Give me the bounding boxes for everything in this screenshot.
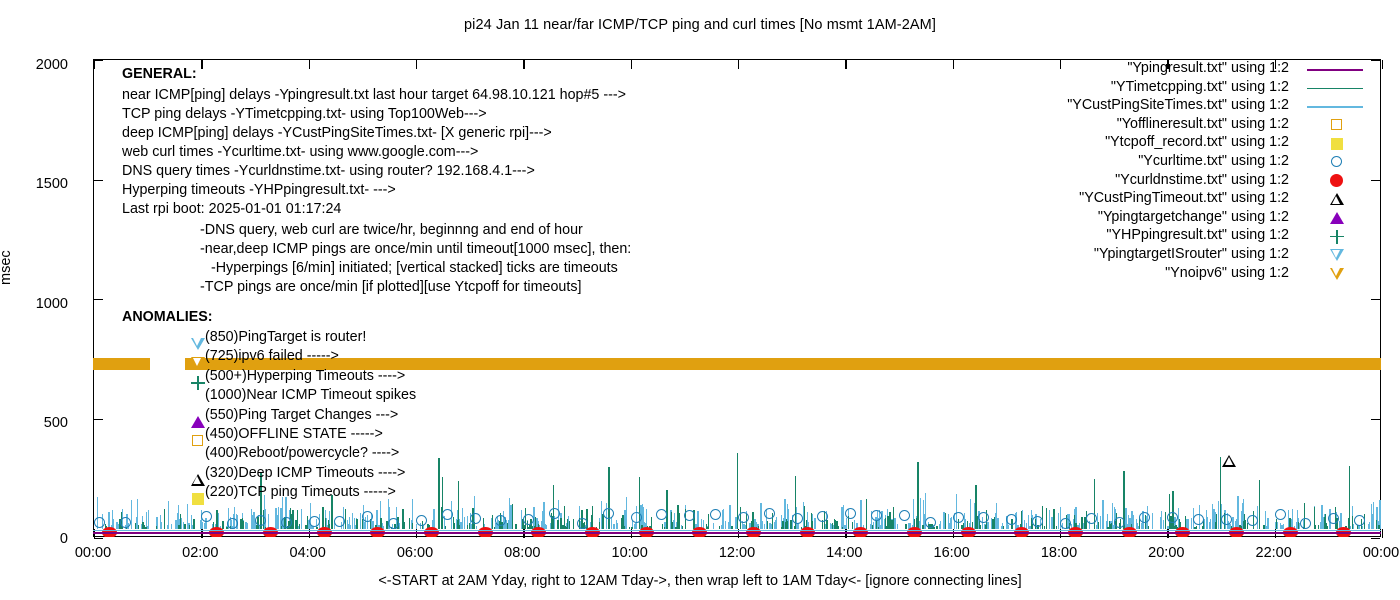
tcp-ping-noise-tick	[786, 519, 787, 529]
tcp-ping-noise-tick	[564, 506, 565, 529]
tcp-ping-noise-tick	[500, 526, 501, 529]
tcp-ping-noise-tick	[1314, 519, 1315, 529]
curl-time-marker	[470, 513, 481, 524]
curl-time-marker	[1221, 514, 1232, 525]
near-icmp-baseline	[93, 532, 1381, 534]
tcp-ping-noise-tick	[878, 527, 879, 529]
tcp-ping-noise-tick	[135, 523, 136, 529]
tcp-ping-noise-tick	[1202, 526, 1203, 529]
tcp-ping-noise-tick	[1216, 514, 1217, 529]
deep-icmp-noise-tick	[160, 526, 161, 529]
tcp-ping-noise-tick	[592, 506, 593, 529]
curl-time-marker	[442, 509, 453, 520]
deep-icmp-noise-tick	[634, 526, 635, 529]
curl-time-marker	[1167, 512, 1178, 523]
tcp-ping-noise-tick	[567, 519, 568, 529]
deep-icmp-noise-tick	[205, 522, 206, 529]
tcp-ping-noise-tick	[893, 507, 894, 529]
anomaly-item-7: (320)Deep ICMP Timeouts ---->	[205, 464, 405, 483]
tcp-ping-noise-tick	[1003, 526, 1004, 529]
general-line-4: web curl times -Ycurltime.txt- using www…	[122, 143, 478, 162]
tcp-ping-noise-tick	[682, 526, 683, 529]
tcp-ping-spike	[1259, 480, 1260, 529]
curl-time-marker	[1114, 517, 1125, 528]
tcp-ping-noise-tick	[295, 520, 296, 529]
curl-time-marker	[201, 511, 212, 522]
curl-time-marker	[764, 508, 775, 519]
x-tick-02-00-1: 02:00	[182, 545, 218, 561]
legend-key-square-open-icon	[1303, 116, 1367, 135]
deep-icmp-noise-tick	[743, 524, 744, 529]
legend-marker-swatch	[1330, 249, 1344, 261]
deep-icmp-noise-tick	[245, 522, 246, 529]
legend-label: "Ytcpoff_record.txt" using 1:2	[1105, 134, 1289, 150]
tcp-ping-noise-tick	[852, 522, 853, 529]
x-tick-00-00-0: 00:00	[75, 545, 111, 561]
tcp-ping-noise-tick	[573, 519, 574, 529]
tcp-ping-noise-tick	[1215, 522, 1216, 529]
deep-icmp-noise-tick	[1207, 517, 1208, 529]
x-tick-16-00-8: 16:00	[934, 545, 970, 561]
tcp-ping-noise-tick	[945, 513, 946, 529]
x-tick-00-00-12: 00:00	[1363, 545, 1399, 561]
deep-icmp-noise-tick	[797, 523, 798, 529]
curl-time-marker	[94, 517, 105, 528]
curl-time-marker	[1275, 509, 1286, 520]
tcp-ping-noise-tick	[662, 524, 663, 529]
curl-time-marker	[817, 511, 828, 522]
deep-icmp-noise-tick	[462, 508, 463, 529]
deep-icmp-noise-tick	[626, 497, 627, 529]
curl-time-marker	[362, 511, 373, 522]
legend-label: "YCustPingSiteTimes.txt" using 1:2	[1067, 97, 1289, 113]
curl-time-marker	[1032, 516, 1043, 527]
deep-icmp-noise-tick	[997, 518, 998, 529]
tcp-ping-noise-tick	[403, 522, 404, 529]
deep-icmp-noise-tick	[399, 523, 400, 529]
tcp-ping-noise-tick	[180, 514, 181, 529]
anomaly-item-3: (1000)Near ICMP Timeout spikes	[205, 386, 416, 405]
legend-label: "YHPpingresult.txt" using 1:2	[1106, 227, 1289, 243]
tcp-ping-spike	[438, 458, 439, 529]
general-line-1: near ICMP[ping] delays -Ypingresult.txt …	[122, 86, 626, 105]
legend-entry: "Ycurltime.txt" using 1:2	[985, 153, 1375, 172]
deep-icmp-noise-tick	[131, 500, 132, 529]
triangle-up-open-icon	[190, 472, 206, 488]
deep-icmp-noise-tick	[1163, 520, 1164, 529]
legend-key-line-icon	[1303, 60, 1367, 79]
tcp-ping-noise-tick	[1376, 520, 1377, 529]
deep-icmp-noise-tick	[1100, 516, 1101, 529]
x-tick-22-00-11: 22:00	[1256, 545, 1292, 561]
tcp-ping-spike	[917, 462, 918, 529]
curl-time-marker	[953, 512, 964, 523]
tcp-ping-noise-tick	[494, 527, 495, 529]
tcp-ping-noise-tick	[467, 525, 468, 529]
deep-icmp-noise-tick	[349, 517, 350, 529]
legend-label: "Ypingresult.txt" using 1:2	[1127, 60, 1289, 76]
tcp-ping-noise-tick	[222, 521, 223, 529]
tcp-ping-noise-tick	[889, 526, 890, 529]
legend-entry: "Yofflineresult.txt" using 1:2	[985, 116, 1375, 135]
general-indent-3: -Hyperpings [6/min] initiated; [vertical…	[207, 259, 618, 278]
curl-time-marker	[684, 510, 695, 521]
tcp-ping-spike	[666, 490, 667, 529]
deep-icmp-noise-tick	[546, 525, 547, 529]
legend-line-swatch	[1307, 88, 1363, 90]
marker-glyph	[192, 493, 204, 505]
legend-marker-swatch	[1330, 212, 1344, 224]
tcp-ping-spike	[458, 481, 459, 529]
tcp-ping-tall-spike	[1172, 491, 1173, 529]
marker-glyph	[191, 357, 205, 369]
tcp-ping-noise-tick	[1276, 519, 1277, 529]
deep-icmp-noise-tick	[278, 507, 279, 529]
general-line-5: DNS query times -Ycurldnstime.txt- using…	[122, 162, 535, 181]
deep-icmp-noise-tick	[1209, 522, 1210, 529]
tcp-ping-noise-tick	[1098, 522, 1099, 529]
deep-icmp-noise-tick	[200, 520, 201, 529]
legend-entry: "Ypingtargetchange" using 1:2	[985, 209, 1375, 228]
tcp-ping-noise-tick	[305, 525, 306, 529]
legend-marker-swatch	[1330, 174, 1343, 187]
tcp-ping-noise-tick	[156, 526, 157, 529]
curl-time-marker	[309, 516, 320, 527]
deep-icmp-noise-tick	[171, 525, 172, 529]
tcp-ping-noise-tick	[138, 525, 139, 529]
curl-time-marker	[978, 512, 989, 523]
legend-label: "YTimetcpping.txt" using 1:2	[1111, 79, 1289, 95]
legend-entry: "YCustPingSiteTimes.txt" using 1:2	[985, 97, 1375, 116]
tcp-ping-noise-tick	[189, 525, 190, 529]
deep-icmp-noise-tick	[360, 516, 361, 529]
legend-label: "YCustPingTimeout.txt" using 1:2	[1079, 190, 1289, 206]
curl-time-marker	[1300, 518, 1311, 529]
legend-entry: "YHPpingresult.txt" using 1:2	[985, 227, 1375, 246]
anomaly-item-6: (400)Reboot/powercycle? ---->	[205, 444, 399, 463]
tcp-ping-noise-tick	[804, 506, 805, 529]
legend-line-swatch	[1307, 69, 1363, 71]
legend-label: "Ypingtargetchange" using 1:2	[1098, 209, 1289, 225]
deep-icmp-noise-tick	[1218, 501, 1219, 529]
deep-icmp-noise-tick	[187, 504, 188, 529]
tcp-ping-noise-tick	[142, 522, 143, 529]
general-line-3: deep ICMP[ping] delays -YCustPingSiteTim…	[122, 124, 552, 143]
deep-icmp-noise-tick	[148, 510, 149, 529]
deep-icmp-noise-tick	[860, 500, 861, 529]
tcp-ping-noise-tick	[885, 518, 886, 529]
general-indent-1: -DNS query, web curl are twice/hr, begin…	[200, 221, 583, 240]
x-tick-12-00-6: 12:00	[719, 545, 755, 561]
curl-time-marker	[549, 508, 560, 519]
curl-time-marker	[871, 510, 882, 521]
x-axis-caption: <-START at 2AM Yday, right to 12AM Tday-…	[0, 573, 1400, 589]
tcp-ping-tall-spike	[442, 477, 443, 529]
tcp-ping-noise-tick	[322, 507, 323, 529]
page-title: pi24 Jan 11 near/far ICMP/TCP ping and c…	[0, 17, 1400, 33]
tcp-ping-noise-tick	[1263, 527, 1264, 529]
deep-icmp-noise-tick	[301, 509, 302, 529]
tcp-ping-noise-tick	[1318, 525, 1319, 529]
tcp-ping-noise-tick	[782, 521, 783, 529]
x-tick-20-00-10: 20:00	[1148, 545, 1184, 561]
tcp-ping-noise-tick	[453, 517, 454, 529]
legend-key-line-icon	[1303, 79, 1367, 98]
legend-entry: "YCustPingTimeout.txt" using 1:2	[985, 190, 1375, 209]
deep-icmp-noise-tick	[1160, 517, 1161, 529]
general-line-6: Hyperping timeouts -YHPpingresult.txt- -…	[122, 181, 396, 200]
tcp-ping-noise-tick	[292, 510, 293, 529]
general-line-2: TCP ping delays -YTimetcpping.txt- using…	[122, 105, 487, 124]
tcp-ping-noise-tick	[731, 526, 732, 529]
marker-glyph	[191, 416, 205, 428]
deep-icmp-noise-tick	[251, 509, 252, 529]
deep-icmp-timeout-marker	[1222, 455, 1236, 467]
deep-icmp-noise-tick	[1028, 515, 1029, 529]
curl-time-marker	[1006, 514, 1017, 525]
legend-label: "Ynoipv6" using 1:2	[1165, 265, 1289, 281]
deep-icmp-noise-tick	[1058, 513, 1059, 529]
deep-icmp-noise-tick	[721, 525, 722, 529]
tcp-ping-noise-tick	[936, 526, 937, 529]
legend-entry: "Ycurldnstime.txt" using 1:2	[985, 172, 1375, 191]
plus-icon	[190, 375, 206, 391]
anomaly-item-8: (220)TCP ping Timeouts ----->	[205, 483, 396, 502]
deep-icmp-noise-tick	[1136, 519, 1137, 529]
x-tick-06-00-3: 06:00	[397, 545, 433, 561]
deep-icmp-noise-tick	[611, 517, 612, 529]
tcp-ping-noise-tick	[356, 519, 357, 529]
tcp-ping-noise-tick	[985, 525, 986, 529]
tcp-ping-noise-tick	[178, 525, 179, 529]
tcp-ping-noise-tick	[842, 527, 843, 529]
legend-entry: "YTimetcpping.txt" using 1:2	[985, 79, 1375, 98]
curl-time-marker	[738, 512, 749, 523]
legend-marker-swatch	[1331, 138, 1343, 150]
general-indent-4: -TCP pings are once/min [if plotted][use…	[200, 278, 581, 297]
tcp-ping-spike	[512, 504, 513, 529]
marker-glyph	[191, 474, 205, 486]
anomaly-item-1: (725)ipv6 failed ----->	[205, 347, 339, 366]
tcp-ping-noise-tick	[184, 524, 185, 529]
deep-icmp-noise-tick	[776, 517, 777, 529]
anomaly-item-4: (550)Ping Target Changes --->	[205, 406, 398, 425]
curl-time-marker	[577, 518, 588, 529]
deep-icmp-noise-tick	[1368, 524, 1369, 529]
marker-glyph	[192, 435, 203, 446]
deep-icmp-noise-tick	[774, 522, 775, 529]
deep-icmp-noise-tick	[951, 517, 952, 529]
tcp-ping-noise-tick	[1325, 514, 1326, 529]
deep-icmp-noise-tick	[987, 522, 988, 529]
tcp-ping-noise-tick	[664, 527, 665, 529]
deep-icmp-noise-tick	[1373, 502, 1374, 529]
deep-icmp-noise-tick	[476, 526, 477, 529]
tcp-ping-spike	[164, 509, 165, 529]
tcp-ping-noise-tick	[409, 518, 410, 529]
marker-glyph	[191, 338, 205, 350]
general-heading: GENERAL:	[122, 65, 197, 84]
tcp-ping-noise-tick	[994, 517, 995, 529]
curl-time-marker	[120, 517, 131, 528]
tcp-ping-noise-tick	[933, 527, 934, 529]
tcp-ping-noise-tick	[672, 522, 673, 529]
tcp-ping-spike	[866, 499, 867, 529]
tcp-ping-noise-tick	[193, 519, 194, 529]
tcp-ping-noise-tick	[557, 527, 558, 529]
legend-key-plus-icon	[1303, 227, 1367, 246]
legend-entry: "Ytcpoff_record.txt" using 1:2	[985, 134, 1375, 153]
deep-icmp-noise-tick	[725, 521, 726, 529]
tcp-ping-noise-tick	[1196, 526, 1197, 529]
tcp-ping-noise-tick	[905, 524, 906, 529]
deep-icmp-noise-tick	[895, 518, 896, 529]
tcp-ping-noise-tick	[678, 513, 679, 529]
deep-icmp-noise-tick	[613, 524, 614, 529]
chart-screenshot: pi24 Jan 11 near/far ICMP/TCP ping and c…	[0, 0, 1400, 600]
tcp-ping-noise-tick	[1378, 525, 1379, 529]
tcp-ping-noise-tick	[492, 515, 493, 529]
deep-icmp-noise-tick	[814, 518, 815, 529]
legend-label: "Ycurltime.txt" using 1:2	[1138, 153, 1289, 169]
tcp-ping-noise-tick	[299, 524, 300, 529]
tcp-ping-noise-tick	[622, 515, 623, 529]
tcp-ping-noise-tick	[790, 520, 791, 529]
legend-entry: "Ypingresult.txt" using 1:2	[985, 60, 1375, 79]
triangle-up-purple-icon	[190, 414, 206, 430]
tcp-ping-noise-tick	[145, 527, 146, 529]
triangle-down-blue-icon	[190, 336, 206, 352]
tcp-ping-noise-tick	[631, 527, 632, 529]
anomaly-item-2: (500+)Hyperping Timeouts ---->	[205, 367, 405, 386]
y-tick-500: 500	[8, 415, 68, 431]
legend-marker-swatch	[1330, 193, 1344, 205]
curl-time-marker	[603, 508, 614, 519]
legend-key-square-filled-icon	[1303, 134, 1367, 153]
deep-icmp-noise-tick	[1322, 525, 1323, 529]
tcp-ping-noise-tick	[1381, 526, 1382, 529]
curl-time-marker	[416, 515, 427, 526]
curl-time-marker	[281, 517, 292, 528]
deep-icmp-noise-tick	[1049, 510, 1050, 529]
tcp-ping-noise-tick	[1165, 512, 1166, 529]
curl-time-marker	[925, 517, 936, 528]
x-tick-04-00-2: 04:00	[290, 545, 326, 561]
deep-icmp-noise-tick	[1267, 518, 1268, 529]
deep-icmp-noise-tick	[508, 520, 509, 529]
tcp-ping-noise-tick	[515, 524, 516, 529]
tcp-ping-spike	[975, 485, 976, 529]
tcp-ping-noise-tick	[837, 526, 838, 529]
deep-icmp-noise-tick	[996, 523, 997, 529]
tcp-ping-noise-tick	[872, 525, 873, 529]
anomalies-heading: ANOMALIES:	[122, 308, 213, 327]
anomaly-item-0: (850)PingTarget is router!	[205, 328, 366, 347]
x-tick-14-00-7: 14:00	[826, 545, 862, 561]
deep-icmp-noise-tick	[1152, 513, 1153, 529]
legend-key-triangle-up-open-icon	[1303, 190, 1367, 209]
tcp-ping-noise-tick	[1110, 524, 1111, 529]
tcp-ping-noise-tick	[1056, 526, 1057, 529]
tcp-ping-noise-tick	[1327, 526, 1328, 529]
tcp-ping-noise-tick	[832, 523, 833, 529]
x-tick-18-00-9: 18:00	[1041, 545, 1077, 561]
deep-icmp-noise-tick	[713, 523, 714, 529]
deep-icmp-noise-tick	[347, 520, 348, 529]
tcp-ping-noise-tick	[767, 521, 768, 529]
deep-icmp-noise-tick	[1212, 504, 1213, 529]
curl-time-marker	[631, 512, 642, 523]
legend-entry: "Ynoipv6" using 1:2	[985, 265, 1375, 284]
tcp-ping-spike	[608, 467, 609, 529]
deep-icmp-noise-tick	[939, 524, 940, 529]
legend-marker-swatch	[1331, 119, 1342, 130]
deep-icmp-noise-tick	[1277, 522, 1278, 529]
tcp-ping-noise-tick	[1298, 522, 1299, 529]
general-indent-2: -near,deep ICMP pings are once/min until…	[200, 240, 631, 259]
tcp-ping-spike	[1046, 508, 1047, 529]
deep-icmp-noise-tick	[1008, 525, 1009, 529]
y-tick-0: 0	[8, 531, 68, 547]
deep-icmp-noise-tick	[137, 499, 138, 529]
deep-icmp-noise-tick	[1204, 519, 1205, 529]
legend-marker-swatch	[1330, 268, 1344, 280]
tcp-ping-noise-tick	[1044, 526, 1045, 529]
tcp-ping-noise-tick	[624, 526, 625, 529]
tcp-ping-noise-tick	[1053, 509, 1054, 529]
tcp-ping-noise-tick	[412, 523, 413, 529]
anomaly-item-5: (450)OFFLINE STATE ----->	[205, 425, 383, 444]
tcp-ping-noise-tick	[524, 525, 525, 529]
y-tick-1500: 1500	[8, 176, 68, 192]
tcp-ping-noise-tick	[1352, 516, 1353, 529]
deep-icmp-noise-tick	[247, 523, 248, 529]
tcp-ping-noise-tick	[629, 527, 630, 529]
legend-marker-swatch	[1330, 230, 1344, 244]
legend-line-swatch	[1307, 106, 1363, 108]
x-axis-tick	[1382, 529, 1383, 538]
deep-icmp-noise-tick	[354, 518, 355, 529]
deep-icmp-noise-tick	[1280, 523, 1281, 529]
ynoipv6-band-segment	[93, 358, 150, 370]
y-axis-tick	[94, 538, 103, 539]
deep-icmp-noise-tick	[760, 503, 761, 529]
deep-icmp-noise-tick	[416, 524, 417, 529]
curl-time-marker	[1139, 512, 1150, 523]
tcp-ping-noise-tick	[469, 523, 470, 529]
legend-label: "Yofflineresult.txt" using 1:2	[1117, 116, 1289, 132]
curl-time-marker	[845, 508, 856, 519]
legend-key-line-icon	[1303, 97, 1367, 116]
x-tick-10-00-5: 10:00	[612, 545, 648, 561]
deep-icmp-noise-tick	[168, 501, 169, 529]
curl-time-marker	[899, 510, 910, 521]
legend-label: "YpingtargetISrouter" using 1:2	[1094, 246, 1289, 262]
deep-icmp-noise-tick	[970, 499, 971, 529]
legend-key-circle-filled-icon	[1303, 172, 1367, 191]
legend-marker-swatch	[1331, 156, 1342, 167]
deep-icmp-noise-tick	[112, 510, 113, 529]
tcp-ping-noise-tick	[827, 525, 828, 529]
tcp-ping-noise-tick	[599, 522, 600, 529]
square-filled-yellow-icon	[190, 491, 206, 507]
y-tick-2000: 2000	[8, 57, 68, 73]
deep-icmp-noise-tick	[982, 525, 983, 529]
tcp-ping-noise-tick	[719, 526, 720, 529]
legend-entry: "YpingtargetISrouter" using 1:2	[985, 246, 1375, 265]
general-line-7: Last rpi boot: 2025-01-01 01:17:24	[122, 200, 341, 219]
tcp-ping-noise-tick	[707, 527, 708, 529]
